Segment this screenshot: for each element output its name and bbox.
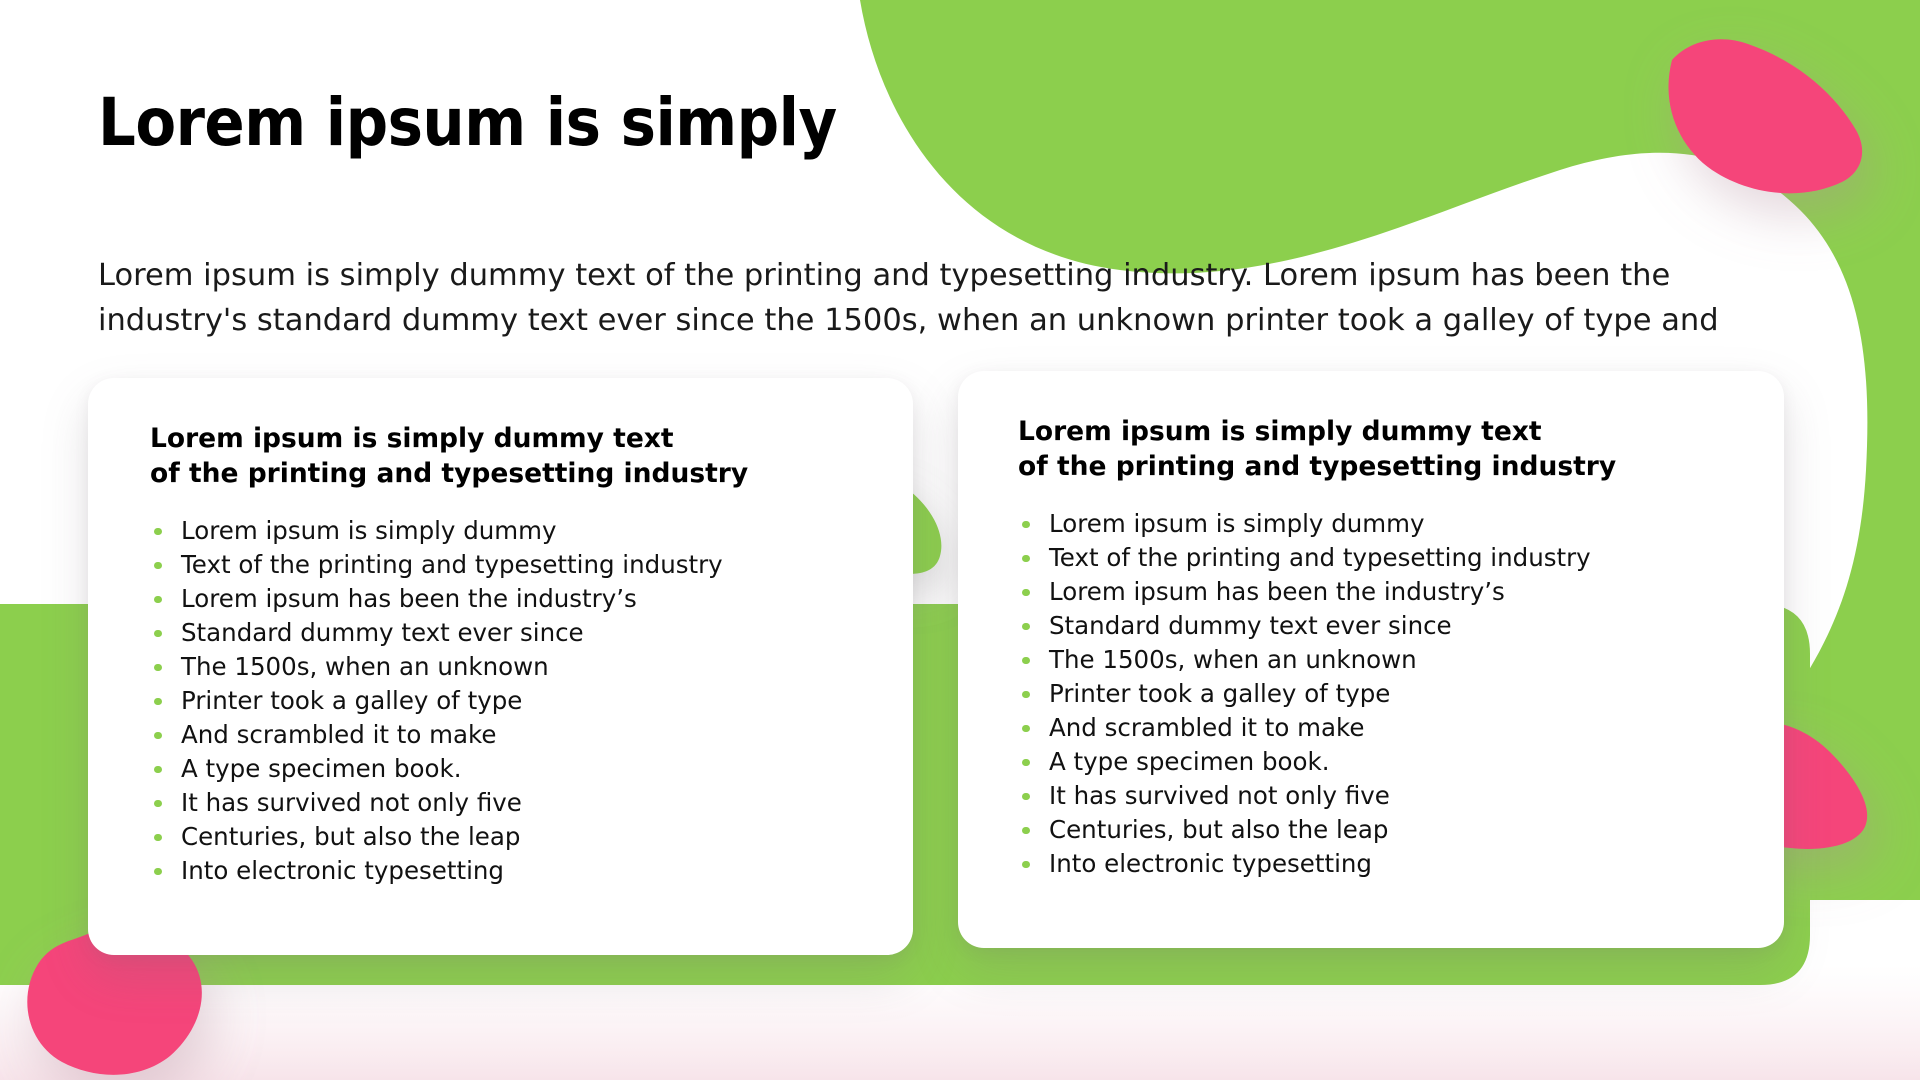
card-left-heading: Lorem ipsum is simply dummy text of the … bbox=[150, 422, 885, 492]
list-item-label: Into electronic typesetting bbox=[1049, 849, 1372, 878]
list-item: It has survived not only five bbox=[150, 786, 885, 820]
list-item: Into electronic typesetting bbox=[1018, 847, 1756, 881]
bullet-dot-icon bbox=[1022, 725, 1030, 733]
list-item-label: Standard dummy text ever since bbox=[181, 618, 584, 647]
list-item: Text of the printing and typesetting ind… bbox=[150, 548, 885, 582]
bullet-dot-icon bbox=[154, 868, 162, 876]
list-item: Lorem ipsum has been the industry’s bbox=[150, 582, 885, 616]
list-item-label: Lorem ipsum has been the industry’s bbox=[1049, 577, 1505, 606]
list-item-label: The 1500s, when an unknown bbox=[1049, 645, 1417, 674]
list-item-label: It has survived not only five bbox=[1049, 781, 1390, 810]
bullet-dot-icon bbox=[1022, 589, 1030, 597]
list-item: Centuries, but also the leap bbox=[150, 820, 885, 854]
card-right-body: Lorem ipsum is simply dummy text of the … bbox=[1018, 415, 1756, 881]
bullet-dot-icon bbox=[1022, 691, 1030, 699]
list-item: Lorem ipsum is simply dummy bbox=[1018, 507, 1756, 541]
list-item: It has survived not only five bbox=[1018, 779, 1756, 813]
list-item: Centuries, but also the leap bbox=[1018, 813, 1756, 847]
list-item: A type specimen book. bbox=[150, 752, 885, 786]
bullet-dot-icon bbox=[154, 664, 162, 672]
content-card-right[interactable]: Lorem ipsum is simply dummy text of the … bbox=[958, 371, 1784, 948]
bullet-dot-icon bbox=[1022, 657, 1030, 665]
list-item-label: A type specimen book. bbox=[1049, 747, 1330, 776]
list-item: The 1500s, when an unknown bbox=[150, 650, 885, 684]
card-left-bullet-list: Lorem ipsum is simply dummy Text of the … bbox=[150, 514, 885, 888]
list-item: Printer took a galley of type bbox=[1018, 677, 1756, 711]
list-item-label: Printer took a galley of type bbox=[181, 686, 522, 715]
list-item-label: Text of the printing and typesetting ind… bbox=[1049, 543, 1591, 572]
slide-canvas: Lorem ipsum is simply Lorem ipsum is sim… bbox=[0, 0, 1920, 1080]
list-item: Printer took a galley of type bbox=[150, 684, 885, 718]
list-item: Lorem ipsum is simply dummy bbox=[150, 514, 885, 548]
page-title: Lorem ipsum is simply bbox=[98, 88, 837, 157]
bullet-dot-icon bbox=[1022, 759, 1030, 767]
card-right-bullet-list: Lorem ipsum is simply dummy Text of the … bbox=[1018, 507, 1756, 881]
card-right-heading-line1: Lorem ipsum is simply dummy text bbox=[1018, 415, 1756, 450]
list-item-label: Lorem ipsum is simply dummy bbox=[181, 516, 557, 545]
list-item: And scrambled it to make bbox=[1018, 711, 1756, 745]
list-item: Lorem ipsum has been the industry’s bbox=[1018, 575, 1756, 609]
bullet-dot-icon bbox=[154, 596, 162, 604]
list-item-label: And scrambled it to make bbox=[181, 720, 496, 749]
bullet-dot-icon bbox=[1022, 623, 1030, 631]
bullet-dot-icon bbox=[154, 800, 162, 808]
list-item-label: Lorem ipsum is simply dummy bbox=[1049, 509, 1425, 538]
slide-subtitle: Lorem ipsum is simply dummy text of the … bbox=[98, 253, 1736, 343]
bullet-dot-icon bbox=[154, 562, 162, 570]
content-card-left[interactable]: Lorem ipsum is simply dummy text of the … bbox=[88, 378, 913, 955]
list-item-label: Text of the printing and typesetting ind… bbox=[181, 550, 723, 579]
list-item-label: Into electronic typesetting bbox=[181, 856, 504, 885]
bullet-dot-icon bbox=[1022, 861, 1030, 869]
list-item-label: Centuries, but also the leap bbox=[181, 822, 520, 851]
list-item: A type specimen book. bbox=[1018, 745, 1756, 779]
list-item: Into electronic typesetting bbox=[150, 854, 885, 888]
bullet-dot-icon bbox=[154, 528, 162, 536]
list-item-label: Lorem ipsum has been the industry’s bbox=[181, 584, 637, 613]
card-right-heading: Lorem ipsum is simply dummy text of the … bbox=[1018, 415, 1756, 485]
bullet-dot-icon bbox=[1022, 827, 1030, 835]
list-item-label: A type specimen book. bbox=[181, 754, 462, 783]
list-item-label: Printer took a galley of type bbox=[1049, 679, 1390, 708]
card-left-body: Lorem ipsum is simply dummy text of the … bbox=[150, 422, 885, 888]
bullet-dot-icon bbox=[154, 732, 162, 740]
list-item: And scrambled it to make bbox=[150, 718, 885, 752]
list-item: Standard dummy text ever since bbox=[150, 616, 885, 650]
list-item-label: Standard dummy text ever since bbox=[1049, 611, 1452, 640]
card-left-heading-line2: of the printing and typesetting industry bbox=[150, 457, 885, 492]
bullet-dot-icon bbox=[154, 698, 162, 706]
list-item: Text of the printing and typesetting ind… bbox=[1018, 541, 1756, 575]
list-item-label: Centuries, but also the leap bbox=[1049, 815, 1388, 844]
list-item-label: The 1500s, when an unknown bbox=[181, 652, 549, 681]
slide-content: Lorem ipsum is simply Lorem ipsum is sim… bbox=[0, 0, 1920, 1080]
bullet-dot-icon bbox=[1022, 793, 1030, 801]
list-item: Standard dummy text ever since bbox=[1018, 609, 1756, 643]
bullet-dot-icon bbox=[154, 630, 162, 638]
card-right-heading-line2: of the printing and typesetting industry bbox=[1018, 450, 1756, 485]
bullet-dot-icon bbox=[154, 834, 162, 842]
bullet-dot-icon bbox=[1022, 521, 1030, 529]
list-item: The 1500s, when an unknown bbox=[1018, 643, 1756, 677]
card-left-heading-line1: Lorem ipsum is simply dummy text bbox=[150, 422, 885, 457]
list-item-label: And scrambled it to make bbox=[1049, 713, 1364, 742]
bullet-dot-icon bbox=[1022, 555, 1030, 563]
list-item-label: It has survived not only five bbox=[181, 788, 522, 817]
bullet-dot-icon bbox=[154, 766, 162, 774]
